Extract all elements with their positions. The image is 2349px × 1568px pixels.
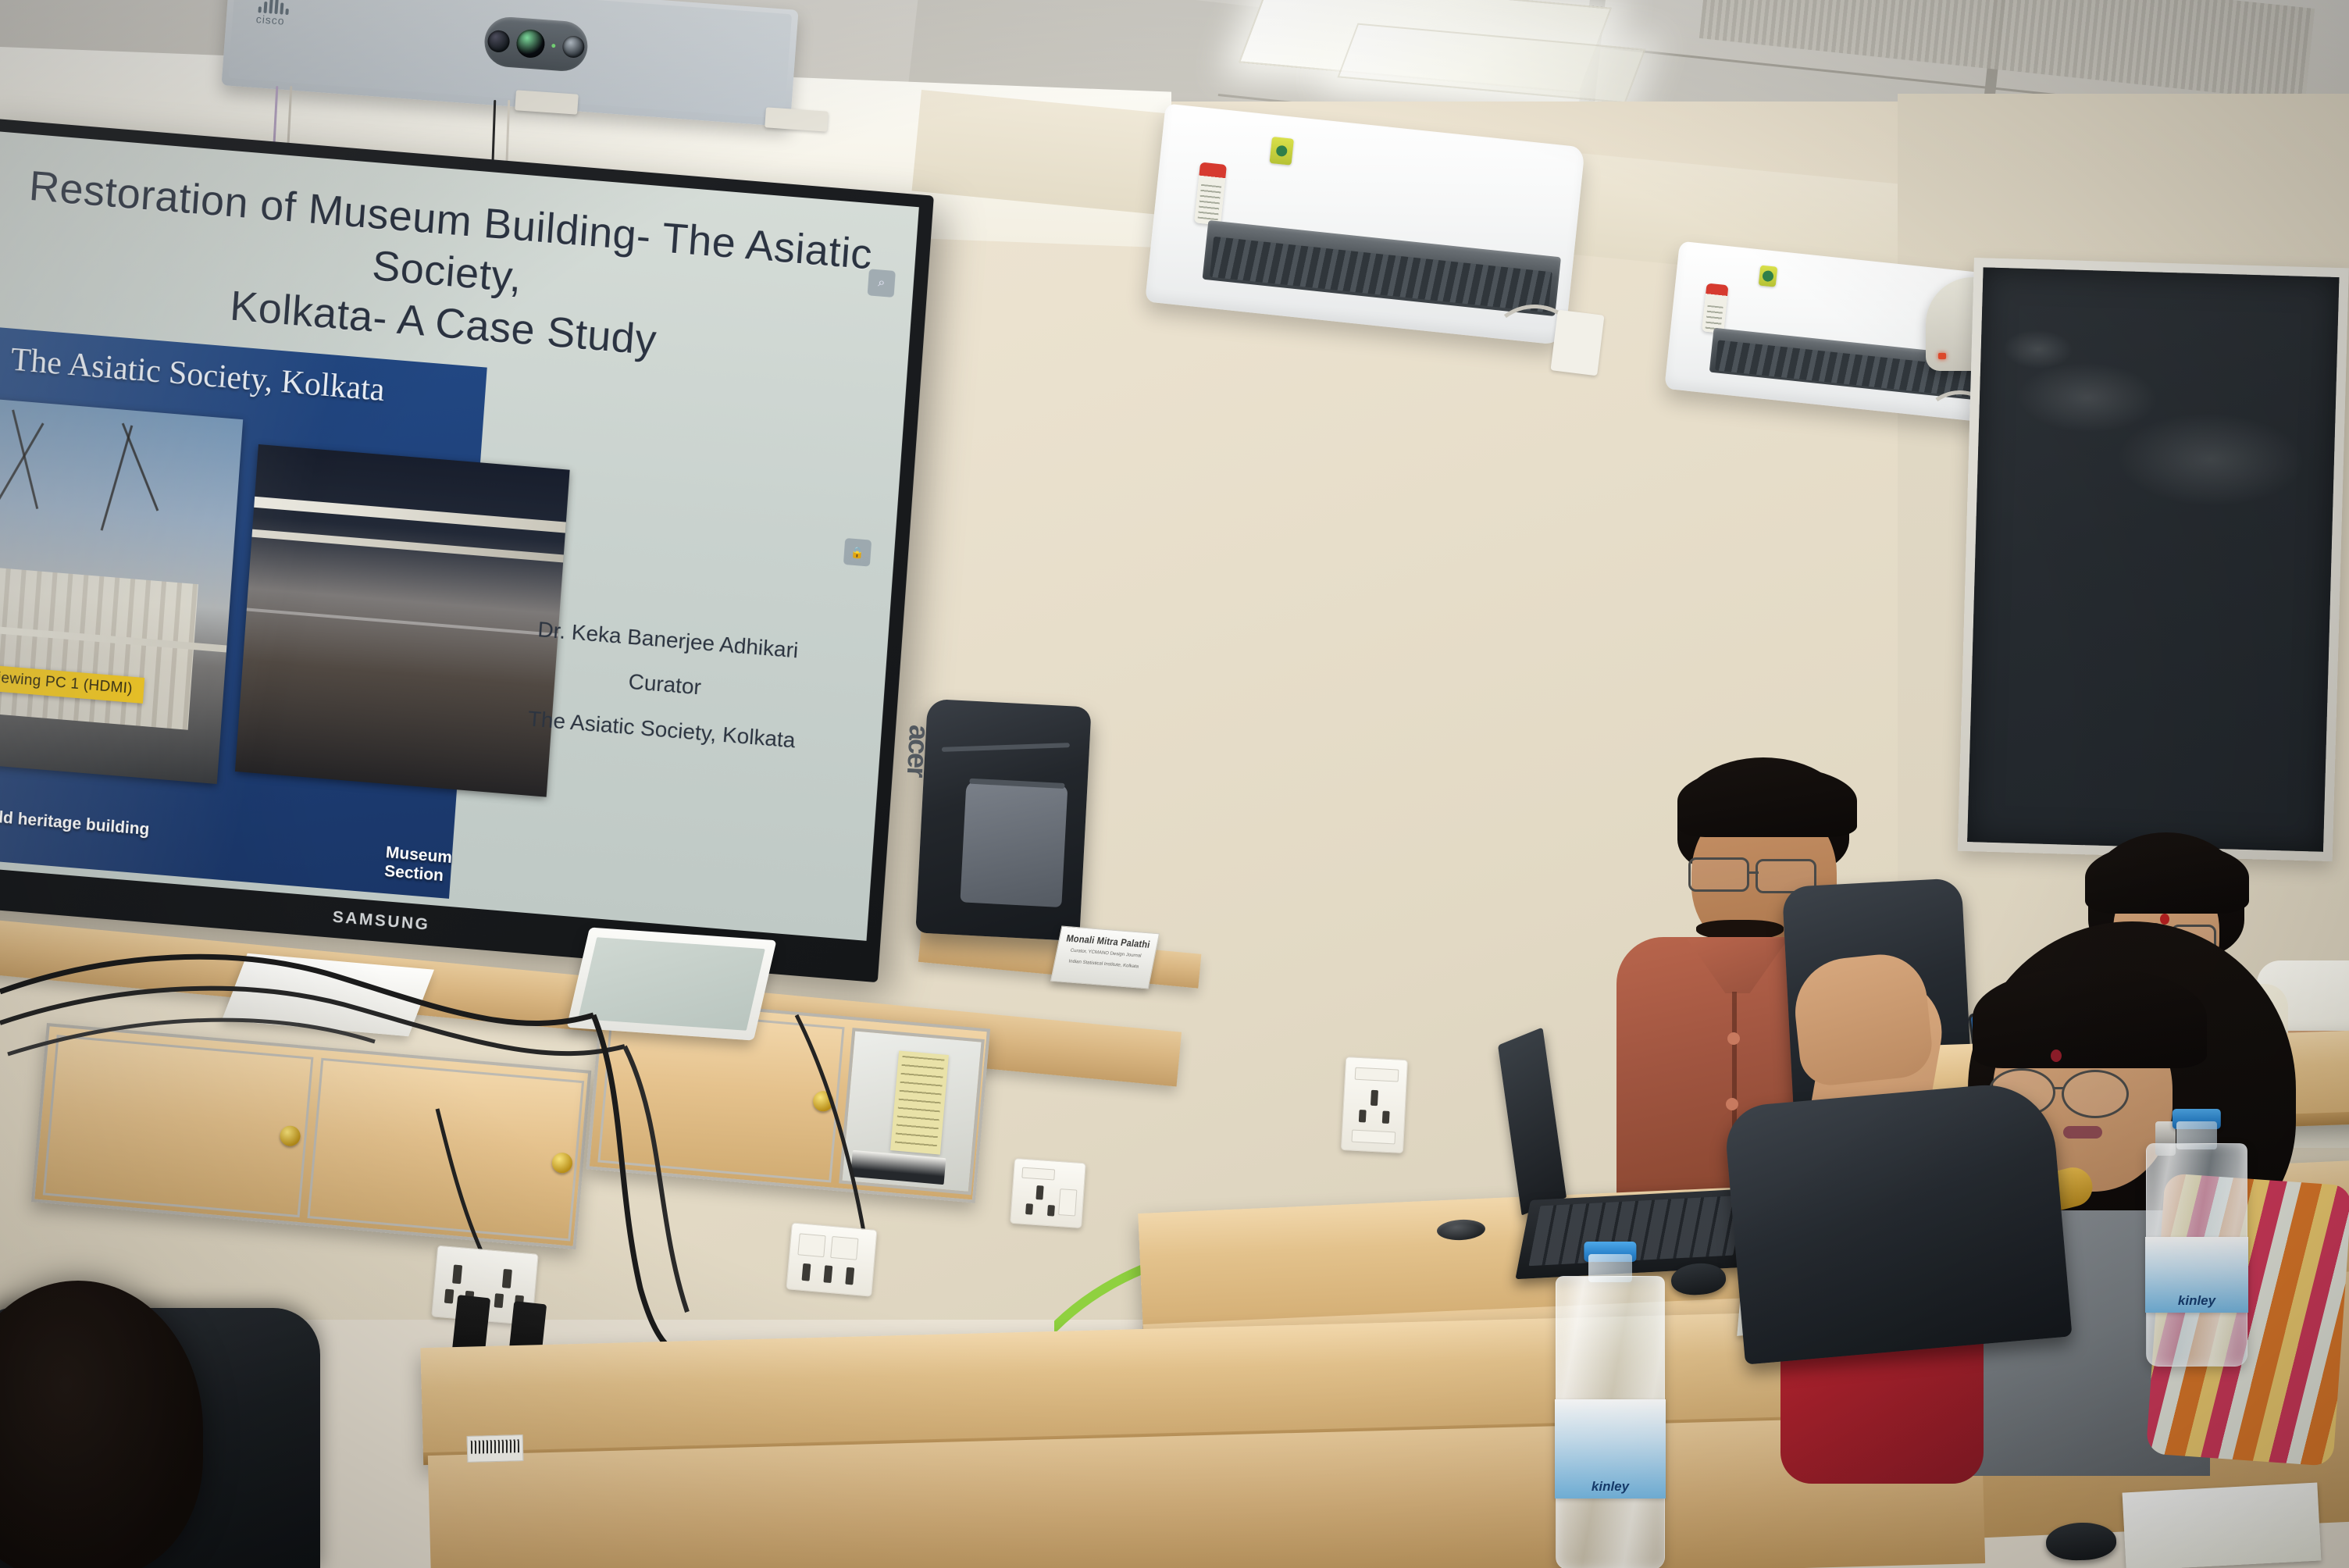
slide-panel-heading: The Asiatic Society, Kolkata xyxy=(9,341,386,409)
presentation-slide: Restoration of Museum Building- The Asia… xyxy=(0,130,919,940)
lips xyxy=(2063,1126,2102,1139)
wall-power-socket[interactable] xyxy=(1341,1057,1408,1153)
camera-mount-bracket xyxy=(765,107,829,132)
office-chair-front xyxy=(1723,1079,2072,1364)
shirt-button xyxy=(1726,1098,1738,1110)
glasses-bridge xyxy=(1748,871,1759,874)
glasses-bridge xyxy=(2054,1087,2065,1089)
slide-blue-panel: The Asiatic Society, Kolkata xyxy=(0,326,487,899)
bottle-brand: kinley xyxy=(2145,1293,2248,1309)
bottle-body: kinley xyxy=(2146,1143,2247,1367)
acer-backpack: acer xyxy=(915,699,1091,942)
desk-nameplate: Monali Mitra Palathi Curator, YCMANO Des… xyxy=(1050,926,1160,989)
backpack-front-pocket xyxy=(960,780,1068,907)
camera-status-led xyxy=(551,43,555,47)
bottle-body: kinley xyxy=(1556,1276,1665,1568)
paper-document xyxy=(2123,1483,2322,1568)
water-bottle-right[interactable]: kinley xyxy=(2146,1109,2247,1367)
display-bezel: Restoration of Museum Building- The Asia… xyxy=(0,117,934,982)
projector-status-led xyxy=(1938,353,1946,359)
ac-air-outlet xyxy=(1203,220,1561,316)
samsung-display[interactable]: Restoration of Museum Building- The Asia… xyxy=(0,117,934,982)
camera-lens-secondary xyxy=(487,30,511,53)
slide-body: The Asiatic Society, Kolkata xyxy=(0,326,896,932)
asset-barcode-tag xyxy=(467,1434,524,1463)
eco-badge-icon xyxy=(1759,265,1778,287)
backpack-zipper xyxy=(942,743,1070,752)
display-osd-button[interactable]: ⌕ xyxy=(868,269,896,298)
blackboard xyxy=(1958,258,2349,861)
acer-logo: acer xyxy=(900,724,936,777)
wall-power-socket[interactable] xyxy=(1010,1158,1086,1228)
bottle-brand: kinley xyxy=(1555,1479,1666,1495)
shirt-button xyxy=(1727,1032,1740,1045)
ac-louvres xyxy=(1210,237,1552,312)
slide-caption-right: Museum Section xyxy=(383,843,452,886)
blackboard-surface xyxy=(1967,267,2339,851)
display-screen[interactable]: Restoration of Museum Building- The Asia… xyxy=(0,130,919,940)
water-bottle-front[interactable]: kinley xyxy=(1556,1242,1665,1568)
glasses-right-lens xyxy=(2062,1070,2129,1118)
eco-badge-icon xyxy=(1270,137,1294,166)
cisco-wordmark: cisco xyxy=(255,12,285,27)
ac-power-socket[interactable] xyxy=(1550,310,1604,376)
bottle-label: kinley xyxy=(1555,1399,1666,1499)
screenshot-scene: cisco Restoration of Museum Building- Th… xyxy=(0,0,2349,1568)
bee-energy-label-icon xyxy=(1702,283,1728,333)
camera-lens-main xyxy=(515,29,546,59)
wall-switch-panel[interactable] xyxy=(786,1222,877,1296)
camera-lens-ir xyxy=(561,35,585,59)
slide-caption-left: Old heritage building xyxy=(0,807,150,839)
slide-photo-heritage-building xyxy=(0,397,243,784)
display-lock-icon: 🔒 xyxy=(843,538,872,567)
bottle-label: kinley xyxy=(2145,1237,2248,1313)
bindi xyxy=(2051,1049,2062,1062)
glasses-left-lens xyxy=(1688,857,1749,892)
bee-energy-label-icon xyxy=(1194,162,1227,226)
camera-mount-bracket xyxy=(515,90,579,115)
cable-bundle xyxy=(0,921,1093,1359)
camera-lens-pod xyxy=(483,16,589,73)
